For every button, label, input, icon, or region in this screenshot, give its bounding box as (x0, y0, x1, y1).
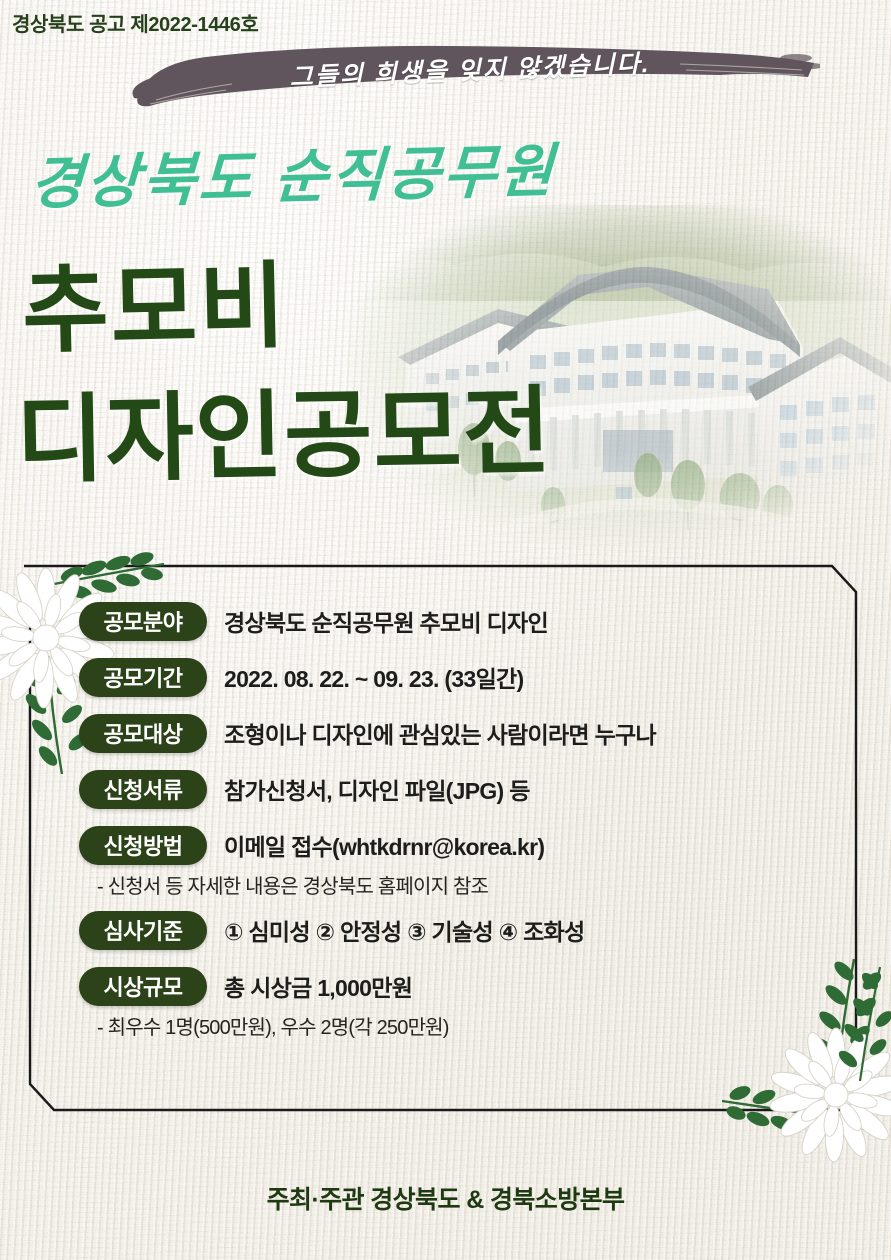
info-value-eligibility: 조형이나 디자인에 관심있는 사람이라면 누구나 (224, 716, 656, 750)
info-row-field: 공모분야 경상북도 순직공무원 추모비 디자인 (79, 598, 862, 644)
info-label-period: 공모기간 (79, 658, 207, 697)
info-row-criteria: 심사기준 ① 심미성 ② 안정성 ③ 기술성 ④ 조화성 (79, 907, 862, 953)
notice-number: 경상북도 공고 제2022-1446호 (12, 8, 258, 37)
info-value-criteria: ① 심미성 ② 안정성 ③ 기술성 ④ 조화성 (224, 913, 584, 947)
info-label-field: 공모분야 (79, 602, 207, 641)
info-list: 공모분야 경상북도 순직공무원 추모비 디자인 공모기간 2022. 08. 2… (24, 560, 862, 1116)
info-note-apply: - 신청서 등 자세한 내용은 경상북도 홈페이지 참조 (97, 870, 862, 899)
info-row-prize: 시상규모 총 시상금 1,000만원 (79, 963, 862, 1009)
info-value-prize: 총 시상금 1,000만원 (224, 969, 412, 1003)
info-row-eligibility: 공모대상 조형이나 디자인에 관심있는 사람이라면 누구나 (79, 710, 862, 756)
info-label-criteria: 심사기준 (79, 911, 207, 950)
info-label-eligibility: 공모대상 (79, 714, 207, 753)
info-value-documents: 참가신청서, 디자인 파일(JPG) 등 (224, 772, 530, 806)
info-label-documents: 신청서류 (79, 770, 207, 809)
info-label-prize: 시상규모 (79, 967, 207, 1006)
organizer-footer: 주최·주관 경상북도 & 경북소방본부 (0, 1180, 891, 1216)
info-value-how-to-apply: 이메일 접수(whtkdrnr@korea.kr) (224, 828, 544, 862)
info-row-documents: 신청서류 참가신청서, 디자인 파일(JPG) 등 (79, 766, 862, 812)
title-line-2: 추모비 (21, 230, 289, 372)
info-row-how-to-apply: 신청방법 이메일 접수(whtkdrnr@korea.kr) (79, 822, 862, 868)
info-row-period: 공모기간 2022. 08. 22. ~ 09. 23. (33일간) (79, 654, 862, 700)
brush-slogan-banner: 그들의 희생을 잊지 않겠습니다. (120, 36, 820, 114)
info-note-prize: - 최우수 1명(500만원), 우수 2명(각 250만원) (97, 1011, 862, 1040)
info-value-field: 경상북도 순직공무원 추모비 디자인 (224, 604, 548, 638)
title-line-3: 디자인공모전 (15, 353, 553, 501)
info-value-period: 2022. 08. 22. ~ 09. 23. (33일간) (224, 660, 523, 694)
poster-root: 경상북도 공고 제2022-1446호 그들의 희생을 잊지 않겠습니다. 경상… (0, 0, 891, 1260)
title-line-1: 경상북도 순직공무원 (28, 124, 558, 221)
info-label-how-to-apply: 신청방법 (79, 826, 207, 865)
